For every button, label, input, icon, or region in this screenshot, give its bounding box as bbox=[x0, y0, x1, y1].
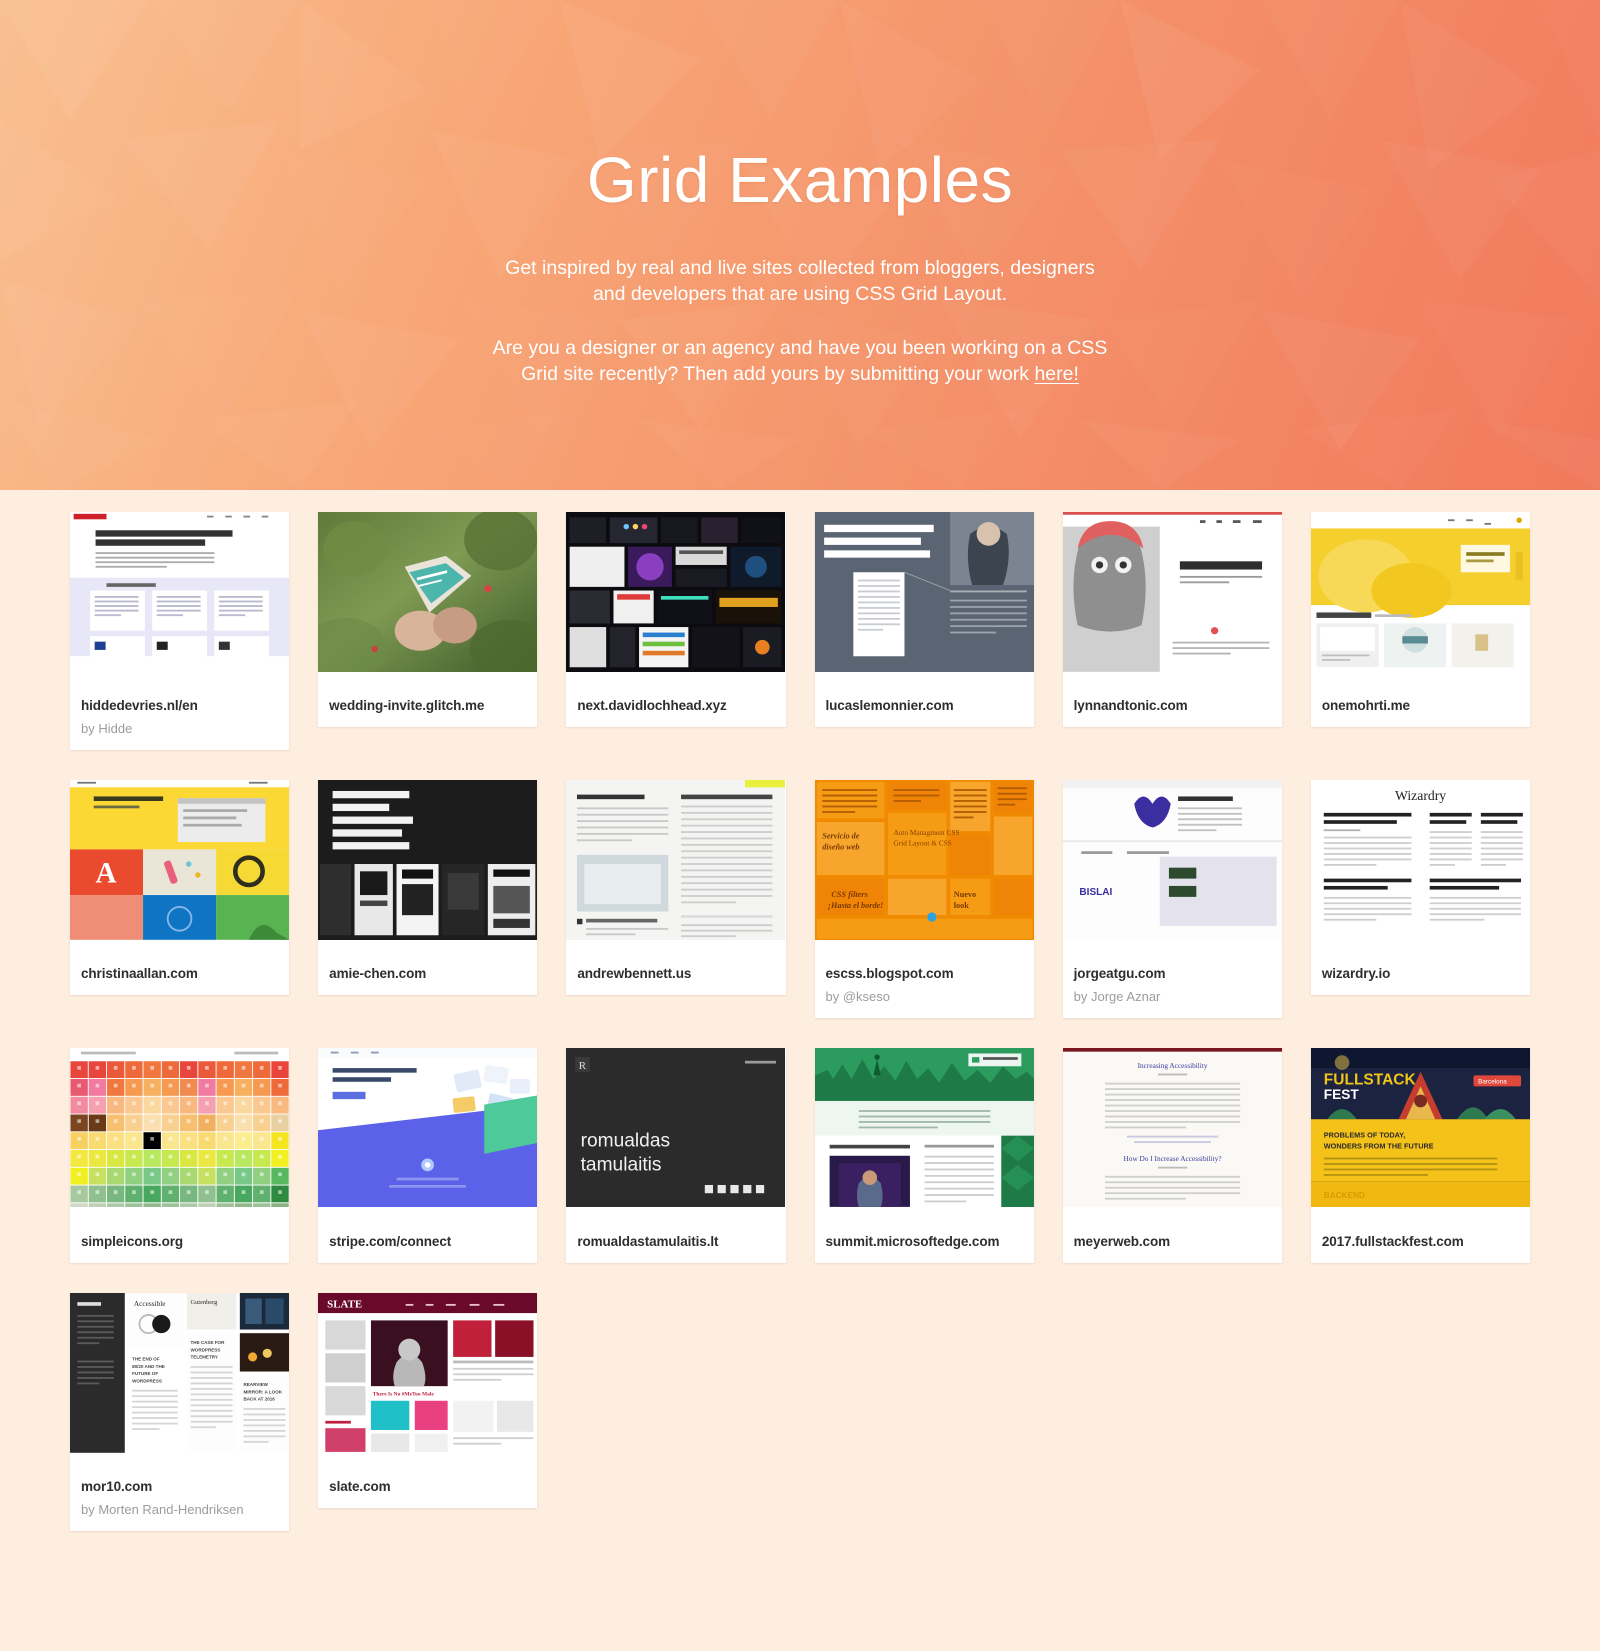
svg-text:Servicio de: Servicio de bbox=[822, 831, 859, 840]
example-card[interactable]: lynnandtonic.com bbox=[1063, 512, 1282, 727]
example-card[interactable]: amie-chen.com bbox=[318, 780, 537, 995]
example-site-name[interactable]: meyerweb.com bbox=[1074, 1234, 1271, 1250]
example-card[interactable]: A christinaallan.com bbox=[70, 780, 289, 995]
svg-text:FEST: FEST bbox=[1324, 1087, 1360, 1102]
svg-text:BISLAI: BISLAI bbox=[1079, 887, 1112, 898]
example-site-name[interactable]: lynnandtonic.com bbox=[1074, 698, 1271, 714]
example-thumbnail[interactable] bbox=[318, 512, 537, 687]
example-card[interactable]: SLATE There Is No #MeToo Male bbox=[318, 1293, 537, 1508]
hero-description-1-line-1: Get inspired by real and live sites coll… bbox=[0, 256, 1600, 282]
example-site-name[interactable]: jorgeatgu.com bbox=[1074, 966, 1271, 982]
svg-text:Nuevo: Nuevo bbox=[953, 890, 975, 899]
example-meta: slate.com bbox=[318, 1468, 537, 1508]
example-site-name[interactable]: hiddedevries.nl/en bbox=[81, 698, 278, 714]
page-title: Grid Examples bbox=[0, 148, 1600, 212]
example-thumbnail[interactable] bbox=[566, 780, 785, 955]
example-meta: christinaallan.com bbox=[70, 955, 289, 995]
svg-text:PROBLEMS OF TODAY,: PROBLEMS OF TODAY, bbox=[1324, 1130, 1405, 1139]
submit-work-link[interactable]: here! bbox=[1034, 363, 1078, 385]
example-thumbnail[interactable]: Wizardry bbox=[1311, 780, 1530, 955]
svg-text:Barcelona: Barcelona bbox=[1478, 1078, 1507, 1085]
example-meta: jorgeatgu.comby Jorge Aznar bbox=[1063, 955, 1282, 1018]
example-meta: lucaslemonnier.com bbox=[815, 687, 1034, 727]
svg-text:Gutenberg: Gutenberg bbox=[191, 1299, 219, 1306]
example-site-name[interactable]: 2017.fullstackfest.com bbox=[1322, 1234, 1519, 1250]
example-meta: mor10.comby Morten Rand-Hendriksen bbox=[70, 1468, 289, 1531]
svg-text:SLATE: SLATE bbox=[327, 1298, 362, 1310]
example-meta: wizardry.io bbox=[1311, 955, 1530, 995]
example-card[interactable]: simpleicons.org bbox=[70, 1048, 289, 1263]
hero-content: Grid Examples Get inspired by real and l… bbox=[0, 0, 1600, 388]
example-meta: wedding-invite.glitch.me bbox=[318, 687, 537, 727]
examples-section: hiddedevries.nl/enby Hidde wedding-invit… bbox=[0, 490, 1600, 1651]
svg-text:diseño web: diseño web bbox=[822, 842, 859, 851]
example-card[interactable]: wedding-invite.glitch.me bbox=[318, 512, 537, 727]
svg-text:look: look bbox=[953, 901, 968, 910]
svg-text:There Is No #MeToo Male: There Is No #MeToo Male bbox=[373, 1391, 435, 1397]
svg-text:WORDPRESS: WORDPRESS bbox=[132, 1378, 162, 1383]
hero-description-2: Are you a designer or an agency and have… bbox=[0, 336, 1600, 388]
svg-text:CSS filters: CSS filters bbox=[831, 890, 867, 899]
example-meta: hiddedevries.nl/enby Hidde bbox=[70, 687, 289, 750]
svg-text:MIRROR: A LOOK: MIRROR: A LOOK bbox=[243, 1389, 282, 1394]
example-meta: summit.microsoftedge.com bbox=[815, 1223, 1034, 1263]
example-meta: 2017.fullstackfest.com bbox=[1311, 1223, 1530, 1263]
example-card[interactable]: Accessible Gutenberg THE END OF 80/20 AN… bbox=[70, 1293, 289, 1531]
svg-text:80/20 AND THE: 80/20 AND THE bbox=[132, 1364, 165, 1369]
svg-text:¡Hasta el borde!: ¡Hasta el borde! bbox=[827, 901, 883, 910]
svg-text:How Do I Increase Accessibilit: How Do I Increase Accessibility? bbox=[1123, 1154, 1221, 1163]
example-thumbnail[interactable]: SLATE There Is No #MeToo Male bbox=[318, 1293, 537, 1468]
example-thumbnail[interactable] bbox=[70, 512, 289, 687]
example-site-name[interactable]: amie-chen.com bbox=[329, 966, 526, 982]
example-thumbnail[interactable] bbox=[1311, 512, 1530, 687]
example-thumbnail[interactable] bbox=[318, 780, 537, 955]
example-thumbnail[interactable] bbox=[70, 1048, 289, 1223]
svg-text:Grid Layout & CSS: Grid Layout & CSS bbox=[893, 839, 951, 848]
example-site-name[interactable]: summit.microsoftedge.com bbox=[826, 1234, 1023, 1250]
example-card[interactable]: hiddedevries.nl/enby Hidde bbox=[70, 512, 289, 750]
example-thumbnail[interactable]: Accessible Gutenberg THE END OF 80/20 AN… bbox=[70, 1293, 289, 1468]
example-site-name[interactable]: romualdastamulaitis.lt bbox=[577, 1234, 774, 1250]
example-site-name[interactable]: escss.blogspot.com bbox=[826, 966, 1023, 982]
svg-text:TELEMETRY: TELEMETRY bbox=[191, 1354, 218, 1359]
hero-description-2-line-2: Grid site recently? Then add yours by su… bbox=[0, 362, 1600, 388]
example-card[interactable]: summit.microsoftedge.com bbox=[815, 1048, 1034, 1263]
example-site-name[interactable]: onemohrti.me bbox=[1322, 698, 1519, 714]
svg-text:BACK AT 2016: BACK AT 2016 bbox=[243, 1396, 275, 1401]
example-meta: meyerweb.com bbox=[1063, 1223, 1282, 1263]
example-card[interactable]: R romualdas tamulaitis romualdastamulait… bbox=[566, 1048, 785, 1263]
example-card[interactable]: lucaslemonnier.com bbox=[815, 512, 1034, 727]
svg-text:WORDPRESS: WORDPRESS bbox=[191, 1347, 221, 1352]
example-site-name[interactable]: slate.com bbox=[329, 1479, 526, 1495]
example-meta: escss.blogspot.comby @kseso bbox=[815, 955, 1034, 1018]
svg-text:THE END OF: THE END OF bbox=[132, 1356, 160, 1361]
example-meta: andrewbennett.us bbox=[566, 955, 785, 995]
example-thumbnail[interactable] bbox=[1063, 512, 1282, 687]
example-meta: next.davidlochhead.xyz bbox=[566, 687, 785, 727]
example-thumbnail[interactable]: R romualdas tamulaitis bbox=[566, 1048, 785, 1223]
svg-text:WONDERS FROM THE FUTURE: WONDERS FROM THE FUTURE bbox=[1324, 1141, 1434, 1150]
svg-text:Accessible: Accessible bbox=[134, 1299, 166, 1308]
example-site-name[interactable]: next.davidlochhead.xyz bbox=[577, 698, 774, 714]
example-thumbnail[interactable] bbox=[815, 512, 1034, 687]
example-thumbnail[interactable]: BISLAI bbox=[1063, 780, 1282, 955]
example-site-name[interactable]: lucaslemonnier.com bbox=[826, 698, 1023, 714]
example-meta: romualdastamulaitis.lt bbox=[566, 1223, 785, 1263]
svg-text:R: R bbox=[579, 1060, 587, 1072]
svg-text:tamulaitis: tamulaitis bbox=[581, 1154, 662, 1175]
svg-text:FULLSTACK: FULLSTACK bbox=[1324, 1071, 1417, 1088]
example-card[interactable]: FULLSTACK FEST Barcelona PROBLEMS OF TOD… bbox=[1311, 1048, 1530, 1263]
example-thumbnail[interactable]: FULLSTACK FEST Barcelona PROBLEMS OF TOD… bbox=[1311, 1048, 1530, 1223]
example-author: by Jorge Aznar bbox=[1074, 989, 1271, 1005]
example-thumbnail[interactable]: Increasing Accessibility How Do I Increa… bbox=[1063, 1048, 1282, 1223]
svg-text:THE CASE FOR: THE CASE FOR bbox=[191, 1340, 226, 1345]
example-card[interactable]: BISLAIjorgeatgu.comby Jorge Aznar bbox=[1063, 780, 1282, 1018]
example-author: by @kseso bbox=[826, 989, 1023, 1005]
example-meta: amie-chen.com bbox=[318, 955, 537, 995]
svg-text:Auto Managment CSS: Auto Managment CSS bbox=[893, 828, 959, 837]
example-thumbnail[interactable] bbox=[318, 1048, 537, 1223]
hero-submit-prefix: Grid site recently? Then add yours by su… bbox=[521, 363, 1034, 385]
example-meta: simpleicons.org bbox=[70, 1223, 289, 1263]
example-meta: stripe.com/connect bbox=[318, 1223, 537, 1263]
example-meta: onemohrti.me bbox=[1311, 687, 1530, 727]
examples-grid: hiddedevries.nl/enby Hidde wedding-invit… bbox=[70, 512, 1530, 1531]
example-site-name[interactable]: simpleicons.org bbox=[81, 1234, 278, 1250]
example-thumbnail[interactable]: A bbox=[70, 780, 289, 955]
example-card[interactable]: next.davidlochhead.xyz bbox=[566, 512, 785, 727]
example-site-name[interactable]: wedding-invite.glitch.me bbox=[329, 698, 526, 714]
example-card[interactable]: Increasing Accessibility How Do I Increa… bbox=[1063, 1048, 1282, 1263]
svg-text:A: A bbox=[96, 857, 117, 889]
example-card[interactable]: Wizardry wizardry.io bbox=[1311, 780, 1530, 995]
svg-text:Wizardry: Wizardry bbox=[1395, 788, 1446, 803]
example-thumbnail[interactable] bbox=[815, 1048, 1034, 1223]
example-meta: lynnandtonic.com bbox=[1063, 687, 1282, 727]
svg-text:FUTURE OF: FUTURE OF bbox=[132, 1371, 158, 1376]
hero-banner: Grid Examples Get inspired by real and l… bbox=[0, 0, 1600, 490]
example-thumbnail[interactable]: Servicio de diseño web CSS filters ¡Hast… bbox=[815, 780, 1034, 955]
example-site-name[interactable]: andrewbennett.us bbox=[577, 966, 774, 982]
example-author: by Hidde bbox=[81, 721, 278, 737]
example-author: by Morten Rand-Hendriksen bbox=[81, 1502, 278, 1518]
example-site-name[interactable]: stripe.com/connect bbox=[329, 1234, 526, 1250]
svg-text:Increasing Accessibility: Increasing Accessibility bbox=[1137, 1061, 1207, 1070]
example-card[interactable]: stripe.com/connect bbox=[318, 1048, 537, 1263]
example-thumbnail[interactable] bbox=[566, 512, 785, 687]
example-site-name[interactable]: christinaallan.com bbox=[81, 966, 278, 982]
svg-text:BACKEND: BACKEND bbox=[1324, 1190, 1365, 1199]
svg-text:REARVIEW: REARVIEW bbox=[243, 1382, 268, 1387]
example-card[interactable]: Servicio de diseño web CSS filters ¡Hast… bbox=[815, 780, 1034, 1018]
example-card[interactable]: andrewbennett.us bbox=[566, 780, 785, 995]
hero-description-1-line-2: and developers that are using CSS Grid L… bbox=[0, 282, 1600, 308]
svg-text:romualdas: romualdas bbox=[581, 1130, 670, 1151]
example-card[interactable]: onemohrti.me bbox=[1311, 512, 1530, 727]
hero-description-2-line-1: Are you a designer or an agency and have… bbox=[0, 336, 1600, 362]
example-site-name[interactable]: mor10.com bbox=[81, 1479, 278, 1495]
example-site-name[interactable]: wizardry.io bbox=[1322, 966, 1519, 982]
hero-description-1: Get inspired by real and live sites coll… bbox=[0, 256, 1600, 308]
